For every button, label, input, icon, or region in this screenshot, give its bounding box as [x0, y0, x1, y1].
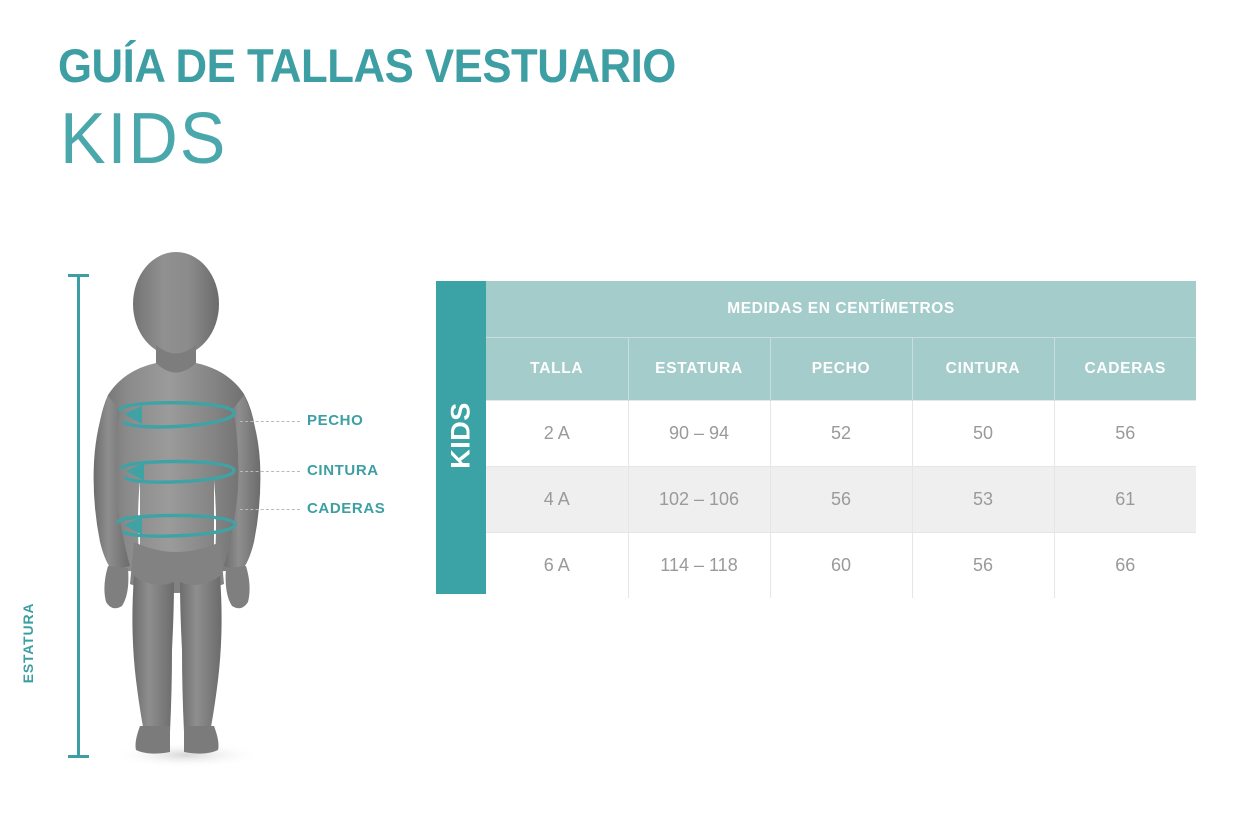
- cell-estatura: 102 – 106: [628, 467, 770, 533]
- size-table: KIDS MEDIDAS EN CENTÍMETROS TALLA ESTATU…: [436, 281, 1196, 594]
- page-subtitle: KIDS: [60, 103, 689, 175]
- measurements-table: MEDIDAS EN CENTÍMETROS TALLA ESTATURA PE…: [486, 281, 1196, 598]
- table-row: 6 A 114 – 118 60 56 66: [486, 533, 1196, 599]
- cell-caderas: 61: [1054, 467, 1196, 533]
- waist-leader-line: [240, 471, 300, 472]
- table-units-header-row: MEDIDAS EN CENTÍMETROS: [486, 281, 1196, 338]
- table-row: 2 A 90 – 94 52 50 56: [486, 401, 1196, 467]
- figure-foot-left: [136, 726, 171, 754]
- column-header-talla: TALLA: [486, 338, 628, 401]
- callout-label-hips: CADERAS: [307, 500, 385, 517]
- callout-label-waist: CINTURA: [307, 462, 379, 479]
- cell-pecho: 60: [770, 533, 912, 599]
- figure-foot-right: [184, 726, 219, 754]
- cell-talla: 6 A: [486, 533, 628, 599]
- cell-estatura: 90 – 94: [628, 401, 770, 467]
- cell-cintura: 50: [912, 401, 1054, 467]
- cell-caderas: 56: [1054, 401, 1196, 467]
- table-column-header-row: TALLA ESTATURA PECHO CINTURA CADERAS: [486, 338, 1196, 401]
- table-category-label: KIDS: [446, 356, 477, 516]
- units-header: MEDIDAS EN CENTÍMETROS: [486, 281, 1196, 338]
- figure-area: ESTATURA: [0, 250, 420, 780]
- table-category-sidebar: KIDS: [436, 281, 486, 594]
- cell-caderas: 66: [1054, 533, 1196, 599]
- column-header-caderas: CADERAS: [1054, 338, 1196, 401]
- table-row: 4 A 102 – 106 56 53 61: [486, 467, 1196, 533]
- cell-cintura: 56: [912, 533, 1054, 599]
- figure-hand-left: [104, 566, 128, 608]
- figure-leg-left: [132, 576, 174, 732]
- column-header-pecho: PECHO: [770, 338, 912, 401]
- hips-leader-line: [240, 509, 300, 510]
- figure-hand-right: [226, 566, 250, 608]
- mannequin-illustration: [78, 250, 298, 770]
- cell-cintura: 53: [912, 467, 1054, 533]
- chest-leader-line: [240, 421, 300, 422]
- figure-head: [133, 252, 219, 356]
- height-label: ESTATURA: [20, 573, 36, 713]
- cell-estatura: 114 – 118: [628, 533, 770, 599]
- figure-leg-right: [180, 576, 222, 732]
- cell-pecho: 52: [770, 401, 912, 467]
- column-header-estatura: ESTATURA: [628, 338, 770, 401]
- table-grid-wrapper: MEDIDAS EN CENTÍMETROS TALLA ESTATURA PE…: [486, 281, 1196, 594]
- cell-talla: 2 A: [486, 401, 628, 467]
- title-block: GUÍA DE TALLAS VESTUARIO KIDS: [58, 42, 722, 175]
- callout-label-chest: PECHO: [307, 412, 363, 429]
- column-header-cintura: CINTURA: [912, 338, 1054, 401]
- cell-talla: 4 A: [486, 467, 628, 533]
- page-title: GUÍA DE TALLAS VESTUARIO: [58, 42, 676, 89]
- cell-pecho: 56: [770, 467, 912, 533]
